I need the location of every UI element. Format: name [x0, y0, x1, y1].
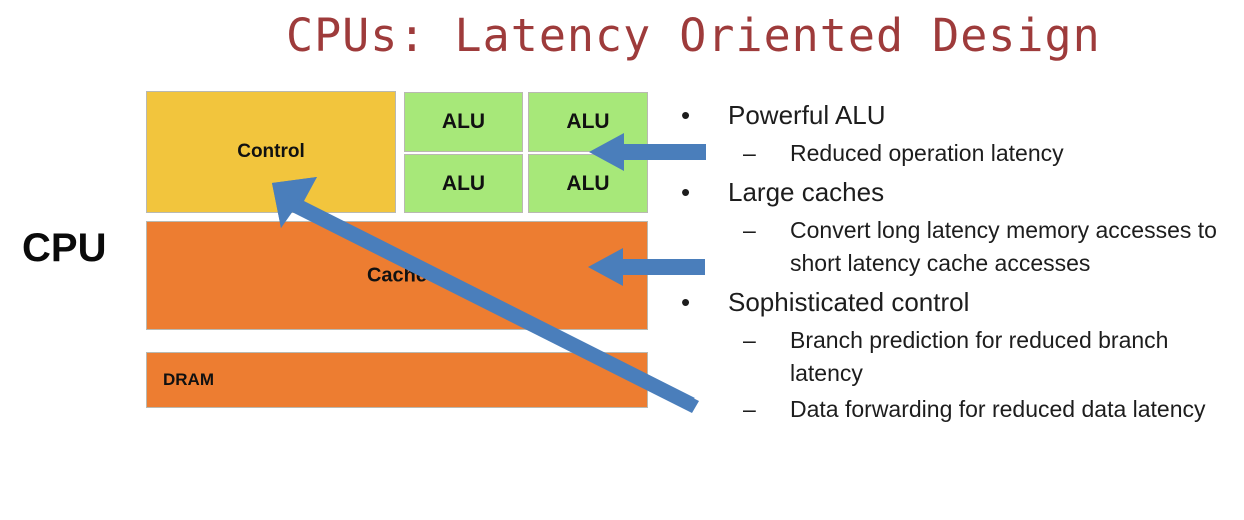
alu-block-4: ALU [528, 154, 648, 213]
bullet-marker: • [681, 283, 690, 322]
bullet-item-2: • Large caches [668, 173, 1244, 212]
sub-bullet-marker: – [743, 214, 756, 247]
control-block-label: Control [147, 141, 395, 163]
sub-bullet-marker: – [743, 393, 756, 426]
bullet-marker: • [681, 96, 690, 135]
sub-bullet-item-3-1-text: Branch prediction for reduced branch lat… [790, 327, 1168, 386]
alu-block-2: ALU [528, 92, 648, 152]
sub-bullet-item-3-2: – Data forwarding for reduced data laten… [668, 393, 1244, 426]
slide-canvas: CPUs: Latency Oriented Design CPU Contro… [0, 0, 1244, 520]
alu-block-3-label: ALU [405, 172, 522, 196]
sub-bullet-item-2-1: – Convert long latency memory accesses t… [668, 214, 1244, 280]
sub-bullet-item-2-1-text: Convert long latency memory accesses to … [790, 217, 1217, 276]
sub-bullet-item-1-1-text: Reduced operation latency [790, 140, 1064, 166]
bullet-marker: • [681, 173, 690, 212]
sub-bullet-marker: – [743, 137, 756, 170]
cache-block-label: Cache [147, 264, 647, 287]
alu-block-1-label: ALU [405, 110, 522, 134]
sub-bullet-item-1-1: – Reduced operation latency [668, 137, 1244, 170]
bullet-item-1-text: Powerful ALU [728, 100, 886, 130]
bullet-item-3: • Sophisticated control [668, 283, 1244, 322]
dram-block-label: DRAM [163, 370, 214, 390]
alu-block-2-label: ALU [529, 110, 647, 134]
sub-bullet-item-3-1: – Branch prediction for reduced branch l… [668, 324, 1244, 390]
bullet-item-1: • Powerful ALU [668, 96, 1244, 135]
dram-block: DRAM [146, 352, 648, 408]
bullet-item-3-text: Sophisticated control [728, 287, 969, 317]
cache-block: Cache [146, 221, 648, 330]
bullet-item-2-text: Large caches [728, 177, 884, 207]
alu-block-3: ALU [404, 154, 523, 213]
alu-block-4-label: ALU [529, 172, 647, 196]
alu-block-1: ALU [404, 92, 523, 152]
control-block: Control [146, 91, 396, 213]
cpu-group-label: CPU [22, 224, 106, 272]
bullet-list: • Powerful ALU – Reduced operation laten… [668, 96, 1244, 429]
sub-bullet-item-3-2-text: Data forwarding for reduced data latency [790, 396, 1206, 422]
page-title: CPUs: Latency Oriented Design [286, 8, 1244, 64]
sub-bullet-marker: – [743, 324, 756, 357]
